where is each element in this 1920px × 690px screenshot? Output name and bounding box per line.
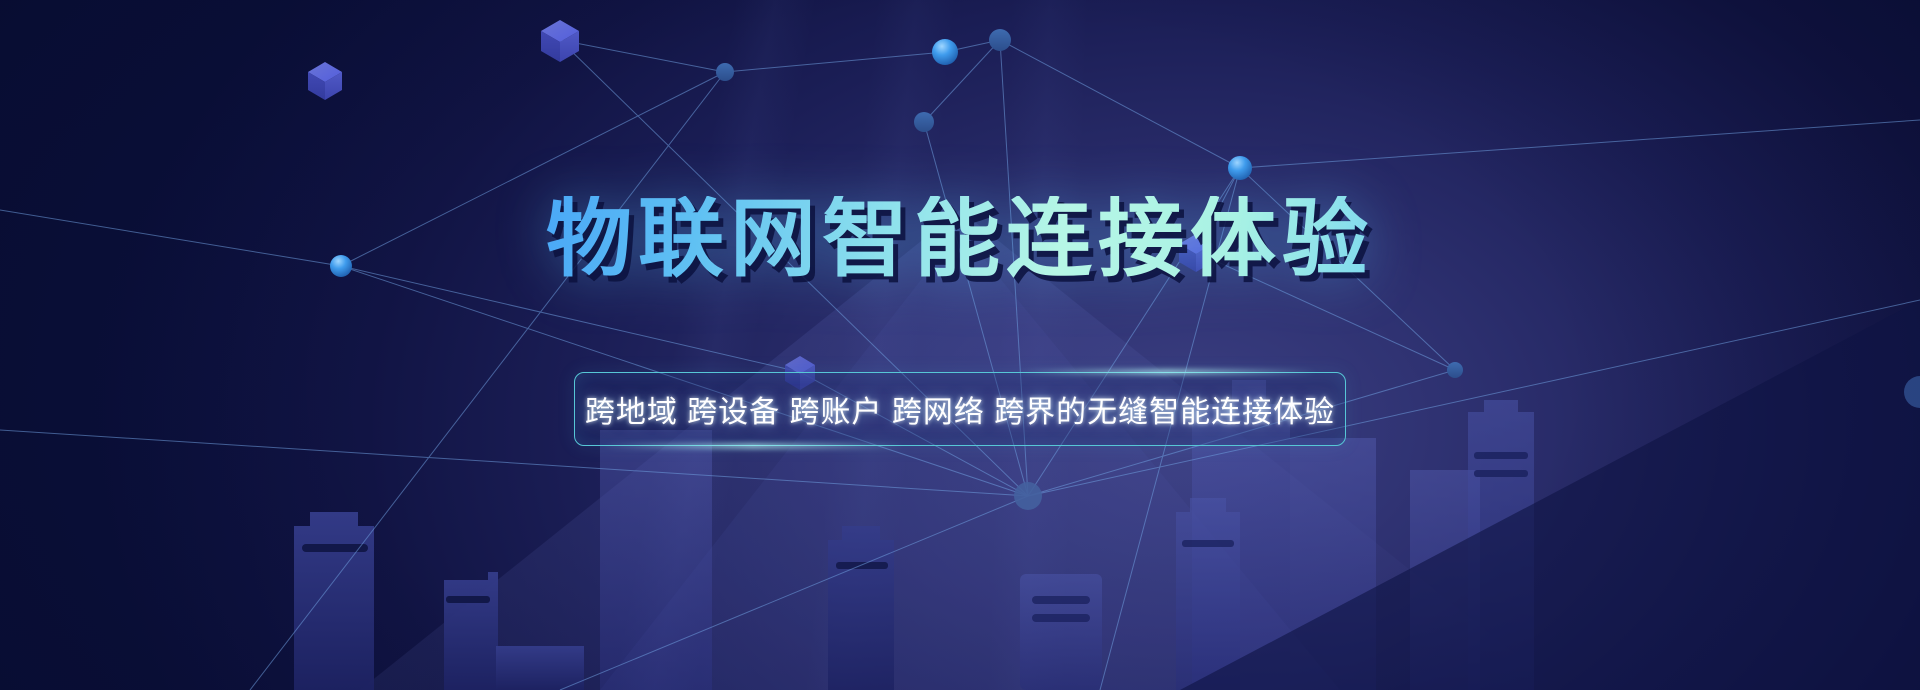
banner-content: 物联网智能连接体验 跨地域 跨设备 跨账户 跨网络 跨界的无缝智能连接体验 bbox=[0, 0, 1920, 690]
panel-glow-bottom bbox=[603, 444, 903, 448]
page-title: 物联网智能连接体验 bbox=[546, 196, 1374, 282]
subtitle-text: 跨地域 跨设备 跨账户 跨网络 跨界的无缝智能连接体验 bbox=[585, 387, 1335, 431]
subtitle-panel: 跨地域 跨设备 跨账户 跨网络 跨界的无缝智能连接体验 bbox=[574, 372, 1346, 446]
panel-glow-top bbox=[1017, 370, 1317, 374]
iot-hero-banner: 物联网智能连接体验 跨地域 跨设备 跨账户 跨网络 跨界的无缝智能连接体验 bbox=[0, 0, 1920, 690]
